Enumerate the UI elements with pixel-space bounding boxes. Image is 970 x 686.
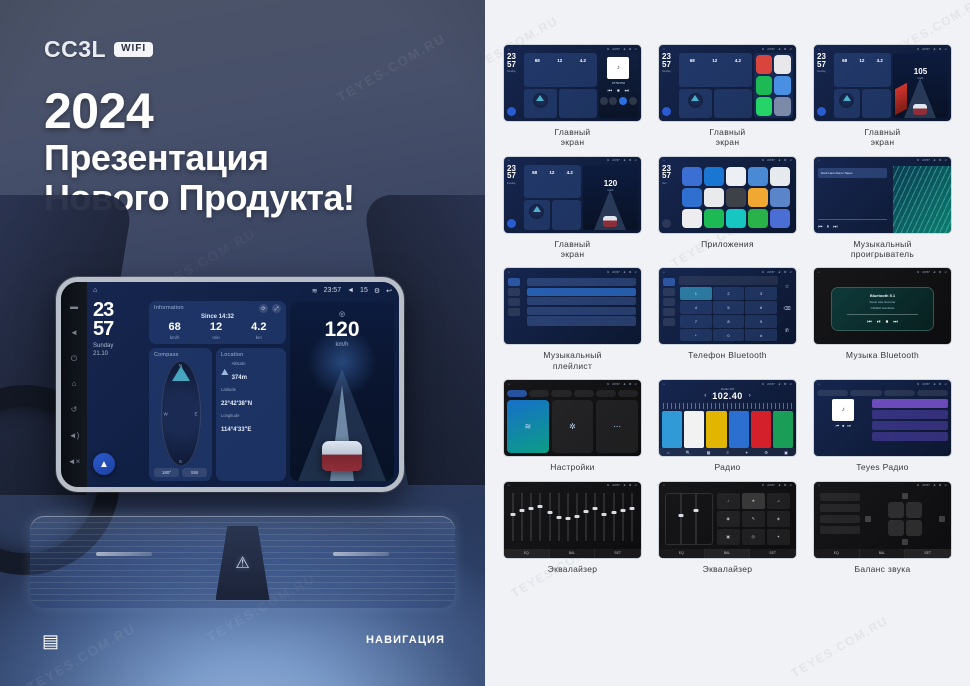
wifi-icon: ≋ bbox=[312, 287, 318, 295]
screen-body: 23 57 Sunday 21.10 ▲ Information ⟳ ⤢ bbox=[87, 299, 399, 487]
compass-title: Compass bbox=[154, 352, 207, 358]
thumbnail-label: Радио bbox=[714, 462, 740, 472]
grid-cell[interactable]: ⌂≋23:57◄⚙↩ 2357Sunday 68124.2 105 km/h bbox=[813, 44, 952, 148]
grid-cell[interactable]: ⌂≋23:57◄⚙↩ 2357Sunday 68124.2 Главныйэкр… bbox=[658, 44, 797, 148]
altitude-row: ⛰ Altitude 374m bbox=[221, 361, 281, 384]
back-icon[interactable]: ↺ bbox=[71, 406, 78, 414]
stat-item: 4.2 km bbox=[251, 322, 266, 340]
headline-line1: Презентация bbox=[44, 138, 355, 178]
grid-cell[interactable]: ⌂≋23:57◄⚙↩ 2357Sunday 68124.2 120 km/h bbox=[503, 156, 642, 260]
grid-cell[interactable]: ⌂≋23:57◄⚙↩ EQBALSET Баланс звука bbox=[813, 481, 952, 574]
gear-icon[interactable]: ⚙ bbox=[374, 287, 380, 295]
vent-slit-right bbox=[333, 552, 389, 556]
thumbnail-radio[interactable]: ⌂≋23:57◄⚙↩ Radio FM ‹ 102.40 › ⌂🔍▦≡✦⚙▣ bbox=[658, 379, 797, 457]
dial-key[interactable]: 6 bbox=[745, 301, 777, 314]
screens-grid-panel: TEYES.COM.RU TEYES.COM.RU TEYES.COM.RU T… bbox=[485, 0, 970, 686]
information-card[interactable]: Information ⟳ ⤢ Since 14:32 68 km/h bbox=[149, 301, 286, 344]
information-since: Since 14:32 bbox=[154, 314, 281, 320]
power-icon[interactable]: ⏻ bbox=[71, 355, 77, 363]
car-model bbox=[322, 441, 362, 471]
thumbnail-sound-balance[interactable]: ⌂≋23:57◄⚙↩ EQBALSET bbox=[813, 481, 952, 559]
thumbnail-label: Эквалайзер bbox=[703, 564, 753, 574]
expand-icon[interactable]: ⤢ bbox=[272, 304, 281, 313]
thumbnail-label: Музыка Bluetooth bbox=[846, 350, 919, 360]
compass-readouts: 180° SW bbox=[154, 468, 207, 477]
hazard-triangle-icon: ⚠ bbox=[235, 553, 249, 573]
radio-scale[interactable] bbox=[663, 403, 792, 409]
dial-key[interactable]: * bbox=[680, 329, 712, 342]
grid-cell[interactable]: ⌂≋23:57◄⚙↩ Dark Lane Demo Tapes ⏮⏸⏭ Музы… bbox=[813, 156, 952, 260]
backspace-icon[interactable]: ⌫ bbox=[783, 306, 790, 312]
grid-cell[interactable]: ⌂≋23:57◄⚙↩ 2357Sun bbox=[658, 156, 797, 260]
thumbnail-music-player[interactable]: ⌂≋23:57◄⚙↩ Dark Lane Demo Tapes ⏮⏸⏭ bbox=[813, 156, 952, 234]
navigation-panel[interactable]: ◎ 120 km/h bbox=[290, 301, 394, 481]
thumbnail-label: Музыкальныйплейлист bbox=[543, 350, 601, 371]
thumbnail-label: Главныйэкран bbox=[555, 127, 591, 148]
dial-key[interactable]: # bbox=[745, 329, 777, 342]
home-icon[interactable]: ⌂ bbox=[72, 380, 77, 388]
balance-pad[interactable] bbox=[865, 493, 945, 545]
stat-value: 12 bbox=[210, 322, 222, 333]
thumbnail-bt-music[interactable]: ⌂≋23:57◄⚙↩ Bluetooth 5.1 Feels Like Summ… bbox=[813, 267, 952, 345]
thumb-speed-unit: km/h bbox=[918, 77, 924, 80]
grid-cell[interactable]: ⌂≋23:57◄⚙↩ Музыкальныйплейлист bbox=[503, 267, 642, 371]
bt-version: Bluetooth 5.1 bbox=[870, 293, 895, 298]
layers-icon[interactable]: ▤ bbox=[42, 632, 59, 650]
compass-mark-e: E bbox=[194, 411, 197, 416]
thumbnail-home-apps[interactable]: ⌂≋23:57◄⚙↩ 2357Sunday 68124.2 bbox=[658, 44, 797, 122]
grid-cell[interactable]: ⌂≋23:57◄⚙↩ 2357Sunday 68124.2 ♪07:50 PM … bbox=[503, 44, 642, 148]
location-card[interactable]: Location ⛰ Altitude 374m Latitude bbox=[216, 348, 286, 481]
more-icon[interactable]: ⋯ bbox=[596, 400, 638, 453]
grid-cell[interactable]: ⌂≋23:57◄⚙↩ Bluetooth 5.1 Feels Like Summ… bbox=[813, 267, 952, 371]
clock-date: 21.10 bbox=[93, 350, 145, 358]
head-unit-button-rail[interactable]: ▬ ◄ ⏻ ⌂ ↺ ◄) ◄× bbox=[61, 282, 87, 487]
next-station-icon[interactable]: › bbox=[749, 393, 751, 399]
thumb-speed: 105 bbox=[914, 67, 927, 76]
stat-item: 68 km/h bbox=[169, 322, 181, 340]
equalizer-bands[interactable] bbox=[504, 489, 641, 549]
brand-logo: CC3L WIFI bbox=[44, 36, 153, 63]
status-time: 23:57 bbox=[324, 287, 342, 294]
head-unit: ▬ ◄ ⏻ ⌂ ↺ ◄) ◄× ⌂ ≋ 23:57 ◄ 15 ⚙ ↩ bbox=[56, 277, 404, 492]
headline-year: 2024 bbox=[44, 85, 355, 138]
radio-presets[interactable] bbox=[659, 411, 796, 448]
grid-cell[interactable]: ⌂≋23:57◄⚙↩ EQBALSET bbox=[503, 481, 642, 574]
clock-column: 23 57 Sunday 21.10 ▲ bbox=[93, 301, 145, 481]
thumbnail-bt-phone[interactable]: ⌂≋23:57◄⚙↩ 1 2 3 4 5 6 7 8 bbox=[658, 267, 797, 345]
thumbnail-label: Эквалайзер bbox=[548, 564, 598, 574]
compass-mark-n: N bbox=[179, 363, 182, 368]
thumbnail-label: Teyes Радио bbox=[856, 462, 908, 472]
mute-icon[interactable]: ◄× bbox=[68, 458, 81, 466]
next-icon[interactable]: ⏭ bbox=[893, 319, 898, 325]
widgets-column: Information ⟳ ⤢ Since 14:32 68 km/h bbox=[149, 301, 286, 481]
star-icon[interactable]: ☆ bbox=[785, 284, 789, 290]
bluetooth-icon[interactable]: ✲ bbox=[552, 400, 594, 453]
prev-icon[interactable]: ⏮ bbox=[867, 319, 872, 325]
brand-model: CC3L bbox=[44, 36, 106, 63]
status-volume: 15 bbox=[360, 287, 368, 294]
dial-key[interactable]: 0 bbox=[713, 329, 745, 342]
back-icon[interactable]: ↩ bbox=[386, 287, 392, 295]
compass-card[interactable]: Compass N E S W 180° S bbox=[149, 348, 212, 481]
thumbnail-label: Главныйэкран bbox=[710, 127, 746, 148]
hero-panel: TEYES.COM.RU TEYES.COM.RU TEYES.COM.RU T… bbox=[0, 0, 485, 686]
grid-cell[interactable]: ⌂≋23:57◄⚙↩ ≋ ✲ ⋯ Настройки bbox=[503, 379, 642, 472]
now-playing-track: Dark Lane Demo Tapes bbox=[818, 168, 887, 178]
speed-unit: km/h bbox=[335, 342, 348, 348]
grid-cell[interactable]: ⌂≋23:57◄⚙↩ Radio FM ‹ 102.40 › ⌂🔍▦≡✦⚙▣ Р… bbox=[658, 379, 797, 472]
speed-value: 120 bbox=[324, 319, 359, 340]
home-icon[interactable]: ⌂ bbox=[93, 287, 97, 294]
thumbnail-teyes-radio[interactable]: ⌂≋23:57◄⚙↩ ♪ ⏮⏹⏭ bbox=[813, 379, 952, 457]
brand-wifi-badge: WIFI bbox=[114, 42, 153, 57]
mountain-icon: ⛰ bbox=[221, 367, 229, 378]
compass-heading: 180° bbox=[154, 468, 179, 477]
thumbnail-label: Главныйэкран bbox=[555, 239, 591, 260]
clock-hours: 23 bbox=[93, 301, 145, 320]
compass-cone bbox=[172, 366, 190, 381]
watermark: TEYES.COM.RU bbox=[789, 614, 891, 681]
stat-value: 4.2 bbox=[251, 322, 266, 333]
longitude-value: 114°4'33"E bbox=[221, 427, 251, 433]
speed-icon: ◎ bbox=[339, 310, 345, 318]
dial-key[interactable]: 9 bbox=[745, 315, 777, 328]
thumb-speed-unit: km/h bbox=[608, 189, 614, 192]
information-stats: 68 km/h 12 min 4.2 km bbox=[154, 322, 281, 340]
thumbnail-label: Музыкальныйпроигрыватель bbox=[851, 239, 914, 260]
bt-artist: Childish Gambino bbox=[871, 306, 895, 310]
status-bar: ⌂ ≋ 23:57 ◄ 15 ⚙ ↩ bbox=[87, 282, 399, 299]
dial-key[interactable]: 1 bbox=[680, 287, 712, 300]
compass-direction: SW bbox=[182, 468, 207, 477]
latitude-label: Latitude bbox=[221, 387, 281, 392]
thumbnail-home-media[interactable]: ⌂≋23:57◄⚙↩ 2357Sunday 68124.2 ♪07:50 PM … bbox=[503, 44, 642, 122]
thumbnail-playlist[interactable]: ⌂≋23:57◄⚙↩ bbox=[503, 267, 642, 345]
dashboard-scene: ▬ ◄ ⏻ ⌂ ↺ ◄) ◄× ⌂ ≋ 23:57 ◄ 15 ⚙ ↩ bbox=[0, 215, 485, 686]
prev-station-icon[interactable]: ‹ bbox=[704, 393, 706, 399]
dial-key[interactable]: 2 bbox=[713, 287, 745, 300]
dial-key[interactable]: 3 bbox=[745, 287, 777, 300]
lower-widgets: Compass N E S W 180° S bbox=[149, 348, 286, 481]
compass-dial: N E S W bbox=[161, 361, 201, 466]
information-actions[interactable]: ⟳ ⤢ bbox=[259, 304, 281, 313]
wifi-icon[interactable]: ≋ bbox=[507, 400, 549, 453]
stat-unit: km bbox=[251, 335, 266, 340]
longitude-label: Longitude bbox=[221, 413, 281, 418]
grid-cell[interactable]: ⌂≋23:57◄⚙↩ 1 2 3 4 5 6 7 8 bbox=[658, 267, 797, 371]
refresh-icon[interactable]: ⟳ bbox=[259, 304, 268, 313]
clock-minutes: 57 bbox=[93, 320, 145, 339]
head-unit-screen[interactable]: ⌂ ≋ 23:57 ◄ 15 ⚙ ↩ 23 57 Sunday bbox=[87, 282, 399, 487]
dial-key[interactable]: 7 bbox=[680, 315, 712, 328]
call-icon[interactable]: ✆ bbox=[785, 328, 789, 334]
altitude-value: 374m bbox=[232, 375, 247, 381]
compass-mark-s: S bbox=[179, 459, 182, 464]
thumbnail-equalizer-presets[interactable]: ⌂≋23:57◄⚙↩ ♪★♫ ◉✎◈ ▣◎✦ EQBALSET bbox=[658, 481, 797, 559]
thumbnail-label: Главныйэкран bbox=[865, 127, 901, 148]
dashboard-vents: ⚠ bbox=[30, 516, 455, 608]
location-title: Location bbox=[221, 352, 281, 358]
dial-key[interactable]: 8 bbox=[713, 315, 745, 328]
thumbnail-apps[interactable]: ⌂≋23:57◄⚙↩ 2357Sun bbox=[658, 156, 797, 234]
play-pause-icon[interactable]: ⏯ bbox=[877, 319, 881, 325]
menu-icon[interactable]: ▬ bbox=[70, 303, 78, 311]
thumbnail-label: Настройки bbox=[550, 462, 594, 472]
volume-icon[interactable]: ◄) bbox=[69, 432, 80, 440]
altitude-label: Altitude bbox=[232, 361, 247, 366]
thumbnail-settings[interactable]: ⌂≋23:57◄⚙↩ ≋ ✲ ⋯ bbox=[503, 379, 642, 457]
dial-key[interactable]: 5 bbox=[713, 301, 745, 314]
thumbnail-label: Баланс звука bbox=[854, 564, 910, 574]
volume-down-icon[interactable]: ◄ bbox=[70, 329, 78, 337]
volume-icon: ◄ bbox=[347, 287, 354, 294]
stat-unit: km/h bbox=[169, 335, 181, 340]
stop-icon[interactable]: ⏹ bbox=[886, 319, 889, 325]
grid-cell[interactable]: ⌂≋23:57◄⚙↩ ♪★♫ ◉✎◈ ▣◎✦ EQBALSET Эквалайз… bbox=[658, 481, 797, 574]
radio-frequency: 102.40 bbox=[712, 391, 743, 401]
navigation-fab[interactable]: ▲ bbox=[93, 453, 115, 475]
thumbnail-equalizer-bands[interactable]: ⌂≋23:57◄⚙↩ EQBALSET bbox=[503, 481, 642, 559]
longitude-row: Longitude 114°4'33"E bbox=[221, 413, 281, 436]
thumbnail-label: Телефон Bluetooth bbox=[688, 350, 767, 360]
latitude-value: 22°42'38"N bbox=[221, 401, 252, 407]
thumbnail-home-nav-red[interactable]: ⌂≋23:57◄⚙↩ 2357Sunday 68124.2 105 km/h bbox=[813, 44, 952, 122]
clock-day: Sunday bbox=[93, 342, 145, 350]
thumb-speed: 120 bbox=[604, 179, 617, 188]
thumbnail-label: Приложения bbox=[701, 239, 754, 249]
navigation-label: НАВИГАЦИЯ bbox=[366, 634, 445, 646]
stat-item: 12 min bbox=[210, 322, 222, 340]
compass-mark-w: W bbox=[164, 411, 168, 416]
screens-grid: ⌂≋23:57◄⚙↩ 2357Sunday 68124.2 ♪07:50 PM … bbox=[503, 44, 952, 574]
vent-slit-left bbox=[96, 552, 152, 556]
thumbnail-home-nav[interactable]: ⌂≋23:57◄⚙↩ 2357Sunday 68124.2 120 km/h bbox=[503, 156, 642, 234]
dial-key[interactable]: 4 bbox=[680, 301, 712, 314]
stat-value: 68 bbox=[169, 322, 181, 333]
bt-track: Feels Like Summer bbox=[870, 300, 896, 304]
latitude-row: Latitude 22°42'38"N bbox=[221, 387, 281, 410]
grid-cell[interactable]: ⌂≋23:57◄⚙↩ ♪ ⏮⏹⏭ Teyes Радио bbox=[813, 379, 952, 472]
stat-unit: min bbox=[210, 335, 222, 340]
